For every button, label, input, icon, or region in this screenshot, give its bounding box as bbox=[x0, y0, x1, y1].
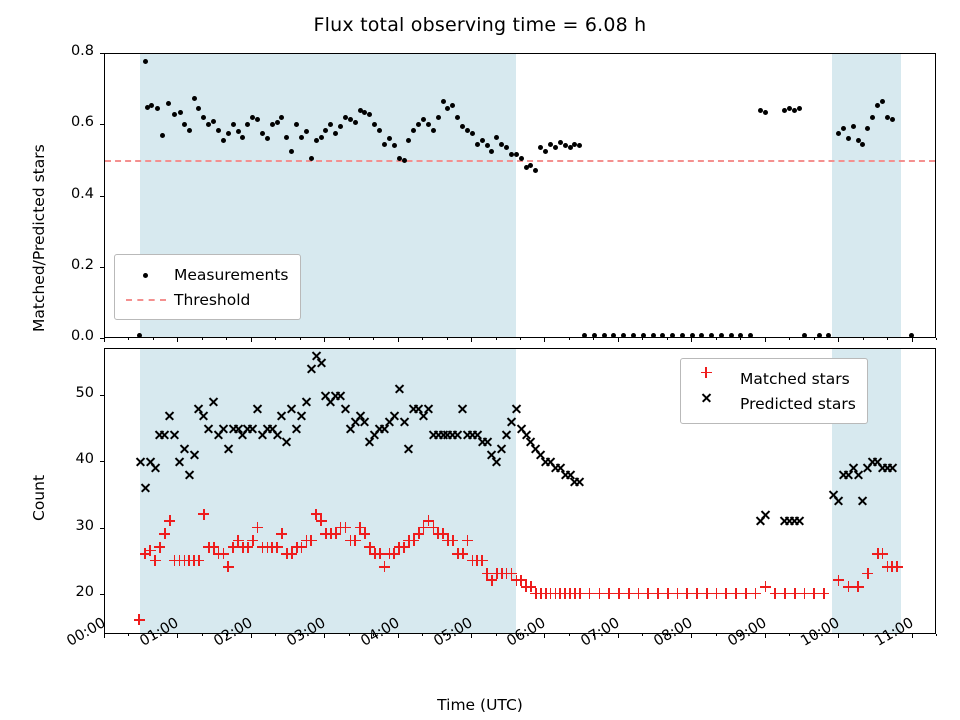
x-minor-tick bbox=[569, 338, 570, 340]
x-minor-tick bbox=[667, 634, 668, 636]
data-point-measurement bbox=[660, 333, 665, 338]
data-point-predicted bbox=[223, 443, 234, 454]
data-point-matched bbox=[379, 561, 390, 572]
data-point-predicted bbox=[403, 443, 414, 454]
data-point-measurement bbox=[397, 156, 402, 161]
legend-item-threshold[interactable]: Threshold bbox=[124, 287, 289, 312]
data-point-matched bbox=[340, 522, 351, 533]
data-point-measurement bbox=[137, 333, 142, 338]
data-point-measurement bbox=[166, 101, 171, 106]
x-minor-tick bbox=[128, 338, 129, 340]
x-minor-tick bbox=[667, 338, 668, 340]
data-point-predicted bbox=[164, 410, 175, 421]
x-minor-tick bbox=[349, 338, 350, 340]
y-tick bbox=[100, 196, 104, 197]
data-point-measurement bbox=[528, 163, 533, 168]
x-tick bbox=[544, 634, 545, 638]
y-tick-label: 0.0 bbox=[46, 328, 94, 344]
dashed-line-icon bbox=[124, 290, 168, 310]
x-tick bbox=[838, 338, 839, 342]
data-point-predicted bbox=[423, 403, 434, 414]
x-tick bbox=[691, 338, 692, 342]
data-point-measurement bbox=[436, 115, 441, 120]
x-minor-tick bbox=[740, 634, 741, 636]
data-point-predicted bbox=[457, 403, 468, 414]
data-point-measurement bbox=[514, 152, 519, 157]
data-point-predicted bbox=[281, 436, 292, 447]
data-point-measurement bbox=[582, 333, 587, 338]
x-minor-tick bbox=[814, 634, 815, 636]
x-minor-tick bbox=[936, 634, 937, 636]
data-point-predicted bbox=[857, 495, 868, 506]
data-point-predicted bbox=[501, 429, 512, 440]
y-tick-label: 40 bbox=[46, 451, 94, 467]
x-tick bbox=[838, 634, 839, 638]
cross-marker-icon bbox=[690, 394, 734, 414]
data-point-measurement bbox=[709, 333, 714, 338]
x-minor-tick bbox=[226, 338, 227, 340]
data-point-measurement bbox=[621, 333, 626, 338]
x-minor-tick bbox=[740, 338, 741, 340]
y-tick bbox=[100, 594, 104, 595]
data-point-measurement bbox=[909, 333, 914, 338]
data-point-measurement bbox=[563, 143, 568, 148]
y-tick bbox=[100, 528, 104, 529]
data-point-measurement bbox=[172, 112, 177, 117]
x-minor-tick bbox=[128, 634, 129, 636]
x-minor-tick bbox=[496, 338, 497, 340]
data-point-measurement bbox=[187, 128, 192, 133]
x-minor-tick bbox=[300, 634, 301, 636]
x-minor-tick bbox=[642, 634, 643, 636]
data-point-measurement bbox=[748, 333, 753, 338]
data-point-measurement bbox=[270, 122, 275, 127]
data-point-predicted bbox=[316, 357, 327, 368]
data-point-predicted bbox=[833, 495, 844, 506]
data-point-predicted bbox=[174, 456, 185, 467]
data-point-matched bbox=[316, 515, 327, 526]
data-point-measurement bbox=[309, 156, 314, 161]
data-point-measurement bbox=[738, 333, 743, 338]
data-point-measurement bbox=[875, 103, 880, 108]
x-tick bbox=[691, 634, 692, 638]
data-point-predicted bbox=[189, 449, 200, 460]
data-point-matched bbox=[306, 535, 317, 546]
data-point-matched bbox=[862, 568, 873, 579]
legend-label: Measurements bbox=[168, 266, 289, 284]
data-point-predicted bbox=[394, 383, 405, 394]
data-point-measurement bbox=[382, 142, 387, 147]
x-minor-tick bbox=[789, 634, 790, 636]
data-point-measurement bbox=[216, 128, 221, 133]
data-point-predicted bbox=[340, 403, 351, 414]
count-axis-title: Count bbox=[30, 475, 48, 521]
data-point-measurement bbox=[851, 124, 856, 129]
data-point-matched bbox=[252, 522, 263, 533]
data-point-measurement bbox=[441, 99, 446, 104]
x-tick bbox=[324, 338, 325, 342]
data-point-measurement bbox=[231, 122, 236, 127]
plus-marker-icon bbox=[690, 369, 734, 389]
data-point-predicted bbox=[482, 436, 493, 447]
data-point-predicted bbox=[301, 396, 312, 407]
data-point-matched bbox=[154, 542, 165, 553]
data-point-measurement bbox=[802, 333, 807, 338]
data-point-predicted bbox=[359, 416, 370, 427]
data-point-measurement bbox=[763, 110, 768, 115]
x-tick bbox=[398, 338, 399, 342]
data-point-measurement bbox=[602, 333, 607, 338]
x-tick bbox=[912, 338, 913, 342]
data-point-measurement bbox=[817, 333, 822, 338]
data-point-predicted bbox=[184, 469, 195, 480]
data-point-measurement bbox=[494, 135, 499, 140]
data-point-predicted bbox=[496, 443, 507, 454]
x-tick bbox=[398, 634, 399, 638]
x-minor-tick bbox=[275, 338, 276, 340]
data-point-predicted bbox=[296, 410, 307, 421]
data-point-predicted bbox=[198, 410, 209, 421]
data-point-measurement bbox=[690, 333, 695, 338]
data-point-matched bbox=[164, 515, 175, 526]
x-minor-tick bbox=[202, 634, 203, 636]
x-tick bbox=[177, 634, 178, 638]
x-tick bbox=[471, 634, 472, 638]
x-minor-tick bbox=[153, 634, 154, 636]
legend-label: Matched stars bbox=[734, 370, 850, 388]
x-tick bbox=[177, 338, 178, 342]
data-point-measurement bbox=[543, 149, 548, 154]
ratio-axis-title: Matched/Predicted stars bbox=[30, 144, 48, 332]
y-tick bbox=[100, 461, 104, 462]
data-point-measurement bbox=[826, 333, 831, 338]
y-tick bbox=[100, 395, 104, 396]
data-point-measurement bbox=[421, 117, 426, 122]
shaded-interval bbox=[832, 54, 900, 337]
data-point-predicted bbox=[794, 515, 805, 526]
legend-label: Predicted stars bbox=[734, 395, 856, 413]
data-point-measurement bbox=[670, 333, 675, 338]
data-point-measurement bbox=[431, 128, 436, 133]
data-point-measurement bbox=[475, 142, 480, 147]
x-minor-tick bbox=[422, 338, 423, 340]
data-point-measurement bbox=[729, 333, 734, 338]
data-point-measurement bbox=[255, 117, 260, 122]
dot-marker-icon bbox=[124, 265, 168, 285]
x-minor-tick bbox=[936, 338, 937, 340]
data-point-matched bbox=[877, 548, 888, 559]
data-point-measurement bbox=[470, 131, 475, 136]
legend-item-measurements[interactable]: Measurements bbox=[124, 262, 289, 287]
data-point-measurement bbox=[592, 333, 597, 338]
x-minor-tick bbox=[275, 634, 276, 636]
x-minor-tick bbox=[496, 634, 497, 636]
data-point-matched bbox=[447, 535, 458, 546]
x-tick bbox=[104, 338, 105, 342]
data-point-measurement bbox=[299, 135, 304, 140]
data-point-matched bbox=[198, 509, 209, 520]
data-point-predicted bbox=[491, 456, 502, 467]
data-point-matched bbox=[853, 581, 864, 592]
x-minor-tick bbox=[863, 634, 864, 636]
data-point-measurement bbox=[680, 333, 685, 338]
data-point-predicted bbox=[169, 429, 180, 440]
x-axis-title: Time (UTC) bbox=[0, 696, 960, 714]
data-point-predicted bbox=[291, 423, 302, 434]
data-point-predicted bbox=[887, 462, 898, 473]
data-point-matched bbox=[359, 528, 370, 539]
data-point-measurement bbox=[519, 156, 524, 161]
data-point-matched bbox=[193, 555, 204, 566]
ratio-legend: Measurements Threshold bbox=[114, 254, 301, 320]
data-point-measurement bbox=[319, 135, 324, 140]
data-point-predicted bbox=[399, 416, 410, 427]
data-point-measurement bbox=[631, 333, 636, 338]
x-minor-tick bbox=[300, 338, 301, 340]
x-tick bbox=[618, 634, 619, 638]
data-point-matched bbox=[159, 528, 170, 539]
x-tick bbox=[251, 338, 252, 342]
data-point-measurement bbox=[143, 59, 148, 64]
data-point-matched bbox=[150, 555, 161, 566]
data-point-predicted bbox=[760, 509, 771, 520]
x-tick bbox=[912, 634, 913, 638]
x-minor-tick bbox=[520, 634, 521, 636]
count-legend: Matched stars Predicted stars bbox=[680, 358, 868, 424]
data-point-predicted bbox=[335, 390, 346, 401]
x-tick-label: 00:00 bbox=[52, 615, 108, 657]
x-minor-tick bbox=[373, 634, 374, 636]
x-minor-tick bbox=[863, 338, 864, 340]
x-minor-tick bbox=[153, 338, 154, 340]
y-tick-label: 30 bbox=[46, 518, 94, 534]
legend-item-predicted-stars[interactable]: Predicted stars bbox=[690, 391, 856, 416]
y-tick-label: 0.8 bbox=[46, 43, 94, 59]
data-point-predicted bbox=[208, 396, 219, 407]
data-point-matched bbox=[134, 614, 145, 625]
x-minor-tick bbox=[422, 634, 423, 636]
data-point-measurement bbox=[641, 333, 646, 338]
data-point-measurement bbox=[797, 106, 802, 111]
x-minor-tick bbox=[349, 634, 350, 636]
data-point-matched bbox=[892, 561, 903, 572]
data-point-measurement bbox=[192, 96, 197, 101]
data-point-measurement bbox=[611, 333, 616, 338]
x-minor-tick bbox=[789, 338, 790, 340]
x-minor-tick bbox=[226, 634, 227, 636]
y-tick bbox=[100, 124, 104, 125]
x-tick bbox=[765, 338, 766, 342]
x-minor-tick bbox=[814, 338, 815, 340]
x-minor-tick bbox=[593, 634, 594, 636]
y-tick-label: 50 bbox=[46, 385, 94, 401]
x-minor-tick bbox=[716, 634, 717, 636]
data-point-measurement bbox=[149, 103, 154, 108]
data-point-matched bbox=[477, 555, 488, 566]
y-tick-label: 20 bbox=[46, 584, 94, 600]
data-point-measurement bbox=[890, 117, 895, 122]
x-tick bbox=[765, 634, 766, 638]
data-point-measurement bbox=[651, 333, 656, 338]
data-point-measurement bbox=[719, 333, 724, 338]
x-minor-tick bbox=[447, 338, 448, 340]
data-point-matched bbox=[818, 588, 829, 599]
data-point-measurement bbox=[411, 128, 416, 133]
legend-label: Threshold bbox=[168, 291, 250, 309]
y-tick-label: 0.4 bbox=[46, 186, 94, 202]
data-point-measurement bbox=[553, 145, 558, 150]
page-title: Flux total observing time = 6.08 h bbox=[0, 14, 960, 36]
x-minor-tick bbox=[642, 338, 643, 340]
data-point-measurement bbox=[211, 119, 216, 124]
data-point-measurement bbox=[841, 126, 846, 131]
data-point-measurement bbox=[480, 138, 485, 143]
data-point-predicted bbox=[511, 403, 522, 414]
data-point-measurement bbox=[377, 128, 382, 133]
y-tick-label: 0.6 bbox=[46, 114, 94, 130]
data-point-measurement bbox=[577, 143, 582, 148]
x-minor-tick bbox=[716, 338, 717, 340]
x-minor-tick bbox=[569, 634, 570, 636]
data-point-matched bbox=[276, 528, 287, 539]
x-tick bbox=[544, 338, 545, 342]
data-point-measurement bbox=[236, 129, 241, 134]
data-point-predicted bbox=[150, 462, 161, 473]
x-minor-tick bbox=[887, 338, 888, 340]
x-minor-tick bbox=[593, 338, 594, 340]
x-minor-tick bbox=[447, 634, 448, 636]
x-minor-tick bbox=[373, 338, 374, 340]
data-point-measurement bbox=[314, 138, 319, 143]
x-tick bbox=[471, 338, 472, 342]
data-point-measurement bbox=[558, 140, 563, 145]
data-point-measurement bbox=[533, 168, 538, 173]
data-point-predicted bbox=[252, 403, 263, 414]
legend-item-matched-stars[interactable]: Matched stars bbox=[690, 366, 856, 391]
x-minor-tick bbox=[520, 338, 521, 340]
x-tick bbox=[324, 634, 325, 638]
data-point-predicted bbox=[140, 482, 151, 493]
x-minor-tick bbox=[202, 338, 203, 340]
y-tick bbox=[100, 267, 104, 268]
y-tick bbox=[100, 53, 104, 54]
data-point-predicted bbox=[574, 476, 585, 487]
x-minor-tick bbox=[887, 634, 888, 636]
x-tick bbox=[251, 634, 252, 638]
data-point-measurement bbox=[226, 131, 231, 136]
data-point-matched bbox=[223, 561, 234, 572]
x-tick bbox=[618, 338, 619, 342]
y-tick bbox=[100, 338, 104, 339]
x-tick bbox=[104, 634, 105, 638]
data-point-measurement bbox=[160, 133, 165, 138]
data-point-measurement bbox=[699, 333, 704, 338]
data-point-measurement bbox=[402, 158, 407, 163]
y-tick-label: 0.2 bbox=[46, 257, 94, 273]
data-point-matched bbox=[462, 535, 473, 546]
